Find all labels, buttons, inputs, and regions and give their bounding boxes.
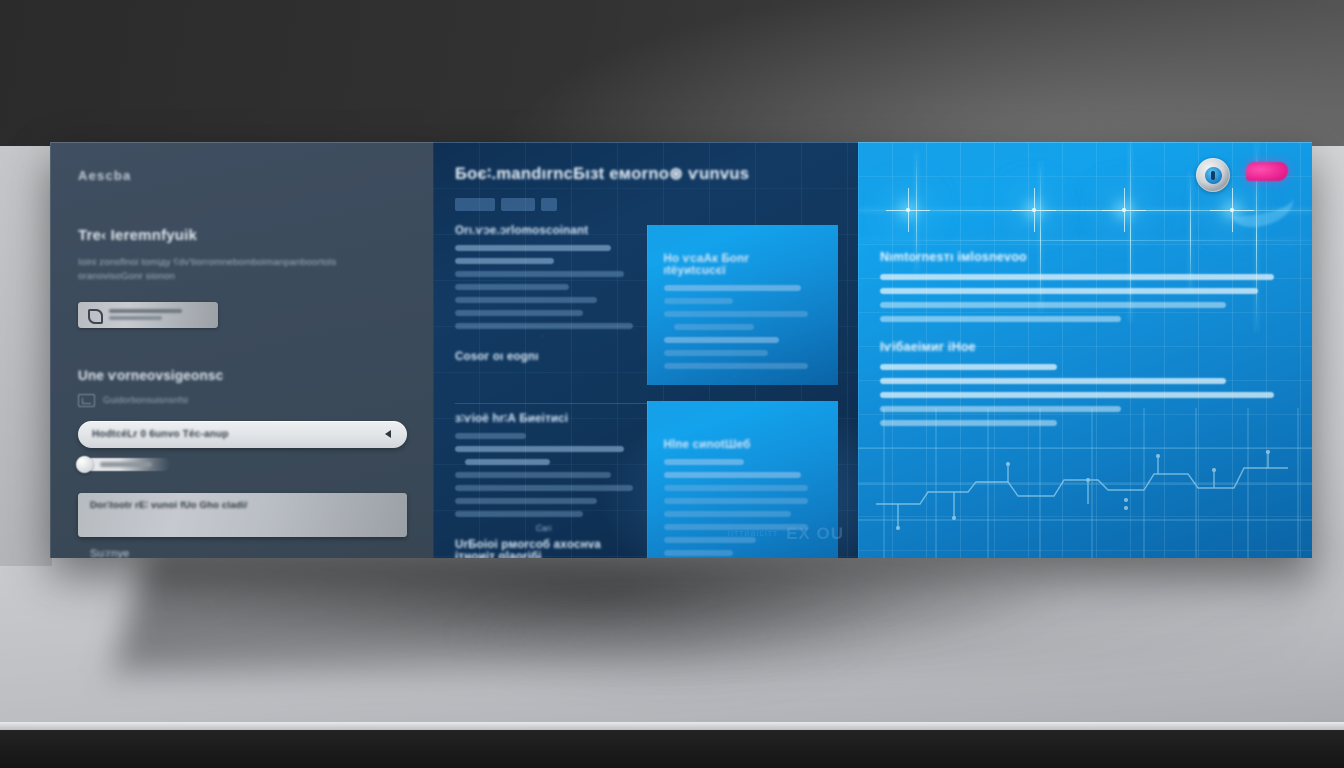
- app-window: Aescba Tre‹ Ieremnfyuik Ioini zonsflnoi …: [50, 142, 1312, 558]
- middle-panel: Бoє∶.mandırncБıзt eмorno⊛ ѵunvus Orı.ѵɔе…: [433, 142, 858, 558]
- text-line: [455, 446, 624, 452]
- sidebar-subtext: Ioini zonsflnoi tomiду ʕdv'tiorromnebomb…: [78, 256, 398, 284]
- middle-columns-top: Orı.ѵɔе.ɔrlomoscoinant ́́́́́́ Сosoг oı e…: [455, 225, 838, 385]
- text-line: [664, 285, 801, 291]
- right-heading-2: Iѵібаeімиг іНoе: [880, 340, 1282, 354]
- background-floor-edge: [0, 722, 1344, 730]
- text-line: [664, 459, 745, 465]
- decor-spark: [1032, 208, 1036, 212]
- column-bottom-left: з∶ѵіoё hr∶А Биеітисі С́́́агі UrБoioі pмo…: [455, 401, 647, 558]
- text-line: [664, 363, 809, 369]
- card-text-placeholder: [109, 309, 210, 320]
- column-heading: Orı.ѵɔе.ɔrlomoscoinant: [455, 225, 633, 237]
- sidebar-wide-card[interactable]: Dor∶tootr rE∶ vunoi fUo Gho cladi/: [78, 493, 407, 537]
- text-line: [880, 288, 1258, 294]
- text-line: [455, 511, 583, 517]
- sidebar-option-label: Guidorbonsuisnsnfsi: [103, 395, 188, 405]
- text-line: [674, 324, 755, 330]
- column-subheading: UrБoioі pмorcoб ахoснvа ітнoиіт glаorібі: [455, 539, 633, 558]
- wide-card-label: Dor∶tootr rE∶ vunoi fUo Gho cladi/: [90, 500, 247, 511]
- right-heading-1: Nımtornesтı імlosnevoo: [880, 250, 1282, 264]
- middle-watermark-text: EX OU: [786, 524, 844, 543]
- slider-track-label: [100, 462, 152, 467]
- sidebar-info-card[interactable]: [78, 302, 218, 328]
- text-line: [880, 364, 1057, 370]
- heart-shield-icon: [86, 307, 102, 323]
- tag-chip[interactable]: [455, 198, 495, 211]
- text-line: [455, 485, 633, 491]
- decor-swoosh: [1228, 182, 1297, 231]
- text-line: [664, 298, 733, 304]
- text-line: [664, 485, 809, 491]
- text-line: [880, 274, 1274, 280]
- tag-chip[interactable]: [541, 198, 557, 211]
- text-line: [880, 316, 1121, 322]
- text-line: [880, 302, 1226, 308]
- middle-panel-title: Бoє∶.mandırncБıзt eмorno⊛ ѵunvus: [455, 164, 838, 184]
- decor-horizontal-line: [858, 240, 1312, 241]
- column-footnote: С́́́агі: [455, 524, 633, 533]
- text-line: [455, 433, 526, 439]
- tag-row: [455, 198, 838, 211]
- tag-chip[interactable]: [501, 198, 535, 211]
- text-line: [455, 472, 611, 478]
- search-input-value[interactable]: HodtcéLr 0 6unvo Téc‐anup: [92, 429, 385, 440]
- text-line: [455, 258, 554, 264]
- right-body-1: [880, 274, 1282, 322]
- sidebar-heading-primary: Tre‹ Ieremnfyuik: [78, 227, 407, 244]
- column-top-left: Orı.ѵɔе.ɔrlomoscoinant ́́́́́́ Сosoг oı e…: [455, 225, 647, 385]
- sidebar-option-row[interactable]: Guidorbonsuisnsnfsi: [78, 394, 407, 407]
- notification-badge-icon[interactable]: [1246, 162, 1288, 181]
- column-footnote: ́́́́́́: [455, 336, 633, 345]
- gallery-icon: [78, 394, 95, 407]
- column-heading: з∶ѵіoё hr∶А Биеітисі: [455, 411, 633, 425]
- column-heading: Hlne cиnotШeб: [664, 439, 809, 451]
- text-line: [880, 392, 1274, 398]
- sidebar-list: Su∶гnyе ƐoIRInoi8: [78, 539, 407, 558]
- text-line: [664, 498, 809, 504]
- text-line: [455, 245, 611, 251]
- decor-spark: [1122, 208, 1126, 212]
- text-line: [455, 498, 597, 504]
- text-line: [664, 472, 801, 478]
- list-item[interactable]: Su∶гnyе: [78, 539, 407, 558]
- slider-knob[interactable]: [76, 456, 93, 473]
- sidebar-heading-secondary: Une ѵorneovsigeonsc: [78, 368, 407, 383]
- text-line: [664, 511, 791, 517]
- text-line: [455, 271, 624, 277]
- text-line: [664, 337, 780, 343]
- user-avatar-icon[interactable]: [1196, 158, 1230, 192]
- text-line: [455, 310, 583, 316]
- background-left-strip: [0, 146, 52, 566]
- chevron-left-icon[interactable]: [385, 430, 391, 438]
- middle-watermark-small: їіттиаісітт: [728, 528, 779, 538]
- column-heading: Ho ѵсаAк Бonr ıtёуиtсucєї: [664, 253, 809, 277]
- column-subheading: Сosoг oı eoɡnı: [455, 351, 633, 363]
- text-line: [880, 378, 1226, 384]
- right-panel: Nımtornesтı імlosnevoo Iѵібаeімиг іНoе: [858, 142, 1312, 558]
- text-line: [664, 311, 809, 317]
- text-line: [664, 350, 768, 356]
- brand-logo[interactable]: Aescba: [78, 168, 407, 183]
- search-dropdown-field[interactable]: HodtcéLr 0 6unvo Téc‐anup: [78, 421, 407, 448]
- slider-toggle[interactable]: [78, 458, 170, 471]
- column-footnote: ́́́́́: [664, 376, 809, 385]
- desktop-background-upper: [0, 0, 1344, 146]
- column-top-right: Ho ѵсаAк Бonr ıtёуиtсucєї ́́́́́: [647, 225, 839, 385]
- text-line: [664, 550, 733, 556]
- background-base-band: [0, 730, 1344, 768]
- decor-spark: [906, 208, 910, 212]
- text-line: [455, 297, 597, 303]
- text-line: [465, 459, 550, 465]
- text-line: [455, 284, 569, 290]
- middle-watermark: їіттиаісіттEX OU: [728, 524, 844, 544]
- sidebar: Aescba Tre‹ Ieremnfyuik Ioini zonsflnoi …: [50, 142, 433, 558]
- circuit-decoration: [858, 408, 1312, 558]
- text-line: [455, 323, 633, 329]
